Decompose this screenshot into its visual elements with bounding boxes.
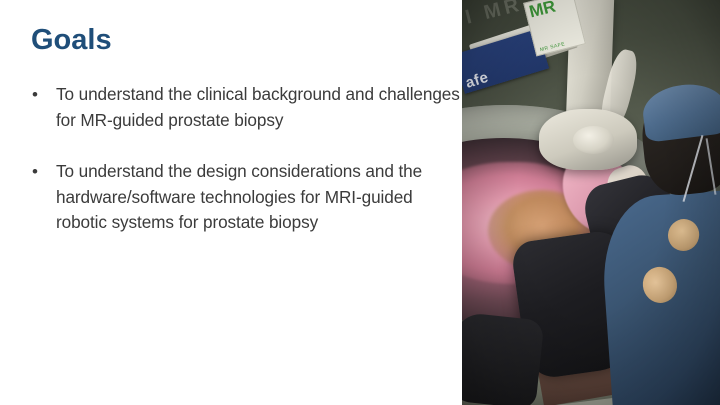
list-item: • To understand the design consideration… <box>26 159 460 236</box>
bullet-marker-icon: • <box>26 159 56 184</box>
green-label-text: MR <box>527 0 558 22</box>
mri-procedure-photo: I MR afe MR MR SAFE <box>462 0 720 405</box>
black-drape-lower-left <box>462 312 544 405</box>
gantry-knob <box>573 126 614 154</box>
bullet-list: • To understand the clinical background … <box>26 82 460 236</box>
bullet-text: To understand the design considerations … <box>56 159 460 236</box>
presentation-slide: Goals • To understand the clinical backg… <box>0 0 720 405</box>
page-title: Goals <box>31 23 112 57</box>
bullet-marker-icon: • <box>26 82 56 107</box>
slide-text-column: Goals • To understand the clinical backg… <box>0 0 462 405</box>
list-item: • To understand the clinical background … <box>26 82 460 133</box>
bullet-text: To understand the clinical background an… <box>56 82 460 133</box>
